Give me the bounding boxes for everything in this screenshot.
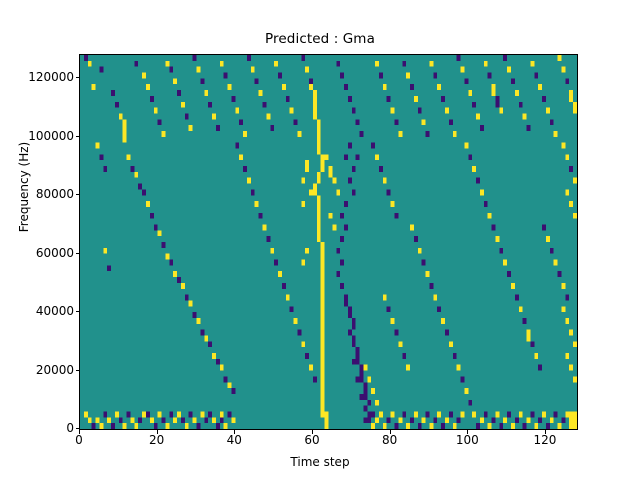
y-tick-mark [76,370,80,371]
x-tick-mark [467,430,468,434]
y-tick-label: 120000 [28,70,74,84]
x-axis-label: Time step [0,455,640,469]
x-tick-mark [79,430,80,434]
x-tick-mark [157,430,158,434]
x-tick-label: 0 [75,433,83,447]
y-tick-label: 100000 [28,129,74,143]
x-tick-mark [390,430,391,434]
x-tick-label: 80 [382,433,397,447]
heatmap-axes[interactable] [79,54,578,430]
x-tick-label: 40 [227,433,242,447]
y-axis-label: Frequency (Hz) [17,77,31,297]
y-tick-label: 20000 [36,363,74,377]
x-tick-label: 20 [149,433,164,447]
y-tick-label: 40000 [36,304,74,318]
x-tick-label: 60 [304,433,319,447]
heatmap-raster [80,55,577,429]
y-tick-label: 0 [66,421,74,435]
chart-title: Predicted : Gma [0,31,640,47]
x-tick-mark [545,430,546,434]
y-tick-mark [76,253,80,254]
y-tick-mark [76,77,80,78]
y-tick-mark [76,311,80,312]
x-tick-label: 100 [456,433,479,447]
y-tick-mark [76,136,80,137]
heatmap-image [80,55,577,429]
y-tick-label: 80000 [36,187,74,201]
figure-canvas: Predicted : Gma Frequency (Hz) Time step… [0,0,640,480]
x-tick-mark [312,430,313,434]
y-tick-mark [76,194,80,195]
x-tick-mark [234,430,235,434]
x-tick-label: 120 [533,433,556,447]
y-tick-label: 60000 [36,246,74,260]
